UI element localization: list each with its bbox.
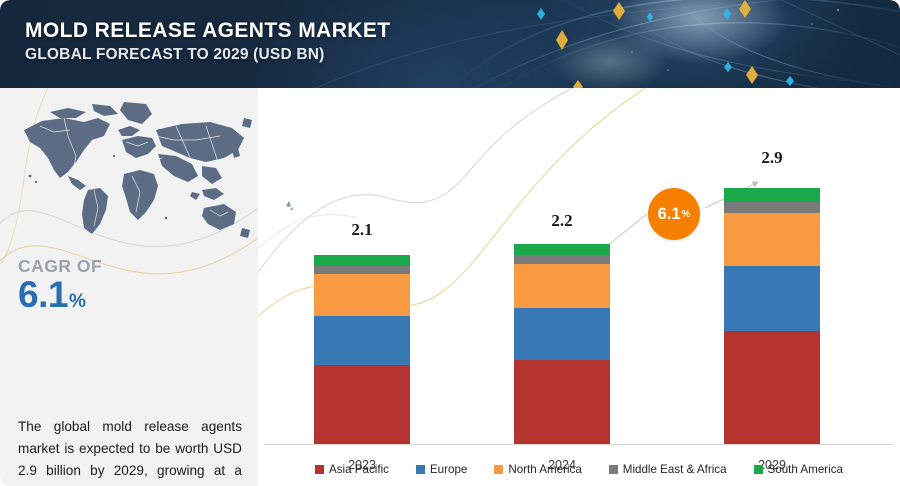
chart-panel: 2.1 2023 2.2 <box>258 88 900 486</box>
legend-label-south-america: South America <box>768 463 843 476</box>
legend-item-middle-east-africa[interactable]: Middle East & Africa <box>609 463 727 476</box>
world-map-icon <box>6 96 256 246</box>
bar-total-label-2029: 2.9 <box>724 148 820 168</box>
bar-segment-asia-pacific-2029[interactable] <box>724 331 820 444</box>
cagr-label: CAGR OF <box>18 256 102 276</box>
legend-item-south-america[interactable]: South America <box>754 463 843 476</box>
bar-segment-south-america-2023[interactable] <box>314 255 410 266</box>
bar-segment-europe-2023[interactable] <box>314 316 410 365</box>
bar-segment-asia-pacific-2023[interactable] <box>314 365 410 444</box>
bar-segment-south-america-2024[interactable] <box>514 244 610 255</box>
cagr-badge-value: 6.1 <box>658 205 681 224</box>
bar-segment-europe-2029[interactable] <box>724 266 820 331</box>
sidebar-panel: CAGR OF 6.1% The global mold release age… <box>0 88 258 486</box>
page-title: MOLD RELEASE AGENTS MARKET <box>25 19 390 43</box>
bar-total-label-2024: 2.2 <box>514 211 610 231</box>
cagr-value: 6.1 <box>18 274 68 315</box>
legend-item-north-america[interactable]: North America <box>494 463 581 476</box>
plot-area: 2.1 2023 2.2 <box>258 88 900 486</box>
cagr-badge[interactable]: 6.1% <box>648 188 700 240</box>
bar-segment-north-america-2029[interactable] <box>724 213 820 266</box>
cagr-badge-percent-symbol: % <box>682 209 691 220</box>
bar-segment-north-america-2024[interactable] <box>514 264 610 308</box>
header-text-block: MOLD RELEASE AGENTS MARKET GLOBAL FORECA… <box>25 19 390 65</box>
legend-label-north-america: North America <box>508 463 581 476</box>
bar-segment-asia-pacific-2024[interactable] <box>514 360 610 444</box>
page-subtitle: GLOBAL FORECAST TO 2029 (USD BN) <box>25 45 390 65</box>
bar-segment-middle-east-africa-2029[interactable] <box>724 202 820 213</box>
header-banner: MOLD RELEASE AGENTS MARKET GLOBAL FORECA… <box>0 0 900 88</box>
bar-segment-middle-east-africa-2024[interactable] <box>514 255 610 264</box>
bar-segment-south-america-2029[interactable] <box>724 188 820 202</box>
legend-swatch-north-america <box>494 465 503 474</box>
bar-segment-europe-2024[interactable] <box>514 308 610 360</box>
legend-item-asia-pacific[interactable]: Asia Pacific <box>315 463 389 476</box>
legend-item-europe[interactable]: Europe <box>416 463 467 476</box>
chart-legend: Asia Pacific Europe North America Middle… <box>258 458 900 480</box>
bar-segment-middle-east-africa-2023[interactable] <box>314 266 410 274</box>
market-description: The global mold release agents market is… <box>18 416 242 486</box>
stacked-bar-2029[interactable] <box>724 188 820 444</box>
legend-swatch-asia-pacific <box>315 465 324 474</box>
cagr-value-wrap: 6.1% <box>18 275 102 322</box>
legend-label-europe: Europe <box>430 463 467 476</box>
infographic-card: MOLD RELEASE AGENTS MARKET GLOBAL FORECA… <box>0 0 900 486</box>
legend-label-middle-east-africa: Middle East & Africa <box>623 463 727 476</box>
legend-swatch-middle-east-africa <box>609 465 618 474</box>
bar-total-label-2023: 2.1 <box>314 220 410 240</box>
bar-segment-north-america-2023[interactable] <box>314 274 410 316</box>
x-axis-line <box>264 444 894 445</box>
cagr-percent-symbol: % <box>69 291 85 312</box>
cagr-block: CAGR OF 6.1% <box>18 256 102 322</box>
stacked-bar-2023[interactable] <box>314 255 410 444</box>
legend-label-asia-pacific: Asia Pacific <box>329 463 389 476</box>
stacked-bar-2024[interactable] <box>514 244 610 444</box>
legend-swatch-europe <box>416 465 425 474</box>
legend-swatch-south-america <box>754 465 763 474</box>
